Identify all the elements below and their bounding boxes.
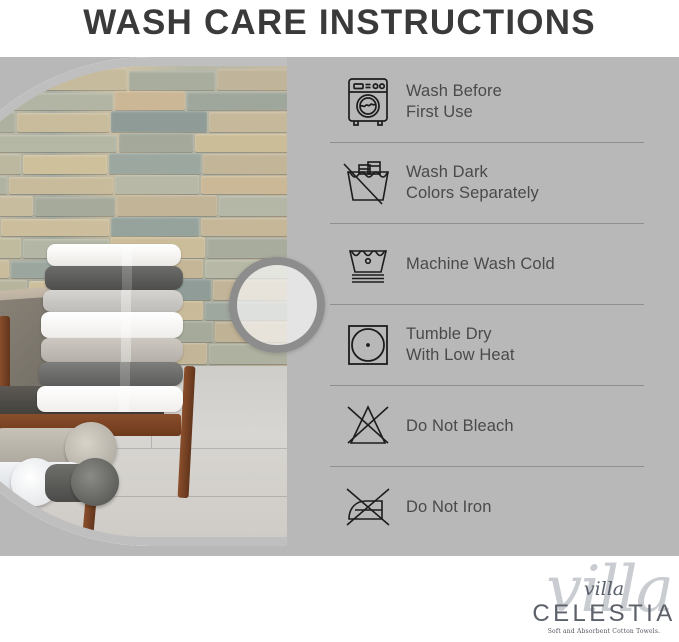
- stone-brick: [0, 92, 1, 110]
- instruction-line-1: Do Not Iron: [406, 498, 491, 516]
- stone-brick: [209, 112, 287, 132]
- stone-brick: [17, 113, 109, 132]
- instruction-label: Do Not Iron: [406, 497, 491, 518]
- stone-brick: [201, 218, 287, 236]
- stone-brick: [115, 91, 185, 110]
- stone-brick: [23, 155, 107, 174]
- instruction-label: Wash Dark Colors Separately: [406, 162, 539, 204]
- instruction-row-machine-wash-cold: Machine Wash Cold: [330, 224, 644, 304]
- folded-towel: [37, 386, 183, 412]
- logo-wordmark: CELESTIA: [529, 600, 679, 628]
- instruction-row-tumble-dry-with-low-heat: Tumble Dry With Low Heat: [330, 305, 644, 385]
- no-mixed-wash-icon: [330, 160, 406, 206]
- page-title: WASH CARE INSTRUCTIONS: [0, 0, 679, 46]
- stone-brick: [115, 175, 199, 194]
- folded-towel: [45, 266, 183, 290]
- stone-brick: [217, 69, 287, 90]
- stone-brick: [0, 135, 117, 152]
- stone-brick: [0, 260, 9, 278]
- instruction-line-2: With Low Heat: [406, 345, 515, 366]
- instruction-label: Machine Wash Cold: [406, 254, 555, 275]
- do-not-bleach-icon: [330, 401, 406, 451]
- instruction-line-1: Wash Dark: [406, 163, 488, 181]
- stone-brick: [187, 92, 287, 110]
- instruction-list: Wash Before First Use Wash Dark Color: [330, 62, 644, 547]
- do-not-iron-icon: [330, 485, 406, 529]
- stone-brick: [109, 153, 201, 174]
- stone-brick: [0, 196, 33, 216]
- stone-brick: [1, 219, 109, 236]
- instruction-row-do-not-iron: Do Not Iron: [330, 467, 644, 547]
- stone-brick: [0, 112, 15, 132]
- washing-machine-icon: [330, 76, 406, 128]
- magnifier-icon: [229, 257, 325, 353]
- stone-brick: [0, 238, 21, 258]
- stone-brick: [219, 196, 287, 216]
- brand-logo: villa villa CELESTIA Soft and Absorbent …: [529, 556, 679, 642]
- instruction-label: Wash Before First Use: [406, 81, 502, 123]
- stone-brick: [3, 93, 113, 110]
- folded-towel: [39, 362, 183, 386]
- instruction-row-wash-before-first-use: Wash Before First Use: [330, 62, 644, 142]
- stone-brick: [111, 111, 207, 132]
- stone-brick: [111, 217, 199, 236]
- stone-brick: [195, 134, 287, 152]
- instruction-label: Tumble Dry With Low Heat: [406, 324, 515, 366]
- folded-towel: [41, 338, 183, 362]
- machine-wash-cold-icon: [330, 241, 406, 287]
- folded-towel: [43, 290, 183, 312]
- instruction-line-1: Wash Before: [406, 82, 502, 100]
- stone-brick: [31, 68, 127, 90]
- instruction-row-do-not-bleach: Do Not Bleach: [330, 386, 644, 466]
- instruction-line-2: First Use: [406, 102, 502, 123]
- stone-brick: [117, 195, 217, 216]
- stone-brick: [129, 71, 215, 90]
- logo-tagline: Soft and Absorbent Cotton Towels.: [529, 628, 679, 635]
- tumble-dry-low-icon: [330, 321, 406, 369]
- folded-towel: [41, 312, 183, 338]
- instruction-label: Do Not Bleach: [406, 416, 514, 437]
- stone-brick: [0, 70, 29, 90]
- rolled-towel-end: [71, 458, 119, 506]
- logo-script-text: villa: [529, 578, 679, 600]
- instruction-line-2: Colors Separately: [406, 183, 539, 204]
- stone-brick: [9, 177, 113, 194]
- folded-towel: [47, 244, 181, 266]
- wash-care-infographic: WASH CARE INSTRUCTIONS: [0, 0, 679, 642]
- stone-brick: [203, 154, 287, 174]
- stone-brick: [0, 154, 21, 174]
- instruction-line-1: Machine Wash Cold: [406, 255, 555, 273]
- stone-brick: [0, 176, 7, 194]
- stone-brick: [35, 197, 115, 216]
- instruction-row-wash-dark-colors-separately: Wash Dark Colors Separately: [330, 143, 644, 223]
- instruction-line-1: Do Not Bleach: [406, 417, 514, 435]
- stone-brick: [201, 176, 287, 194]
- instruction-line-1: Tumble Dry: [406, 325, 492, 343]
- stone-brick: [119, 133, 193, 152]
- stone-brick: [207, 238, 287, 258]
